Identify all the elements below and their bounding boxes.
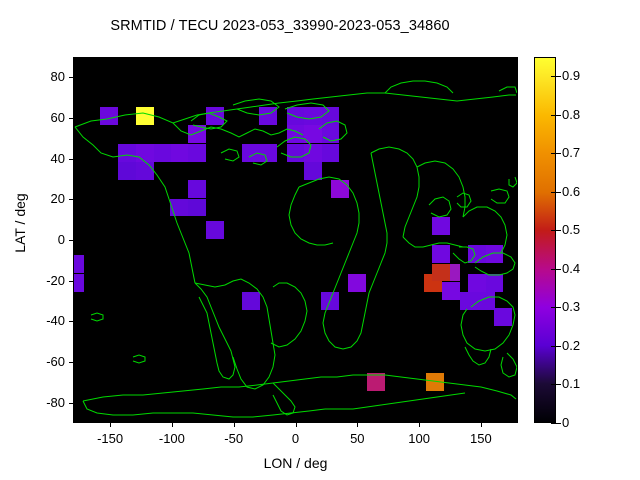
- y-tick-label: 40: [19, 151, 65, 166]
- colorbar-tick-mark-inner: [551, 76, 556, 77]
- x-tick-label: -100: [142, 431, 202, 446]
- colorbar-tick-label: 0.8: [562, 107, 580, 122]
- y-tick-mark: [69, 362, 73, 363]
- y-tick-label: 80: [19, 69, 65, 84]
- colorbar-tick-label: 0.1: [562, 376, 580, 391]
- colorbar-tick-mark-inner: [551, 346, 556, 347]
- y-tick-mark: [69, 77, 73, 78]
- y-tick-label: 0: [19, 232, 65, 247]
- colorbar-tick-mark: [556, 192, 561, 193]
- y-tick-mark: [69, 159, 73, 160]
- colorbar-tick-mark-inner: [551, 423, 556, 424]
- colorbar-tick-label: 0.4: [562, 261, 580, 276]
- y-tick-label: -60: [19, 354, 65, 369]
- colorbar-tick-label: 0: [562, 415, 569, 430]
- colorbar-tick-label: 0.6: [562, 184, 580, 199]
- colorbar-tick-mark: [556, 230, 561, 231]
- y-tick-label: -40: [19, 313, 65, 328]
- colorbar-tick-mark: [556, 76, 561, 77]
- colorbar-tick-mark-inner: [551, 307, 556, 308]
- colorbar-tick-mark-inner: [551, 192, 556, 193]
- colorbar-tick-label: 0.2: [562, 338, 580, 353]
- colorbar-tick-mark-inner: [551, 269, 556, 270]
- x-tick-mark: [357, 423, 358, 427]
- x-tick-label: 0: [266, 431, 326, 446]
- x-tick-mark: [481, 423, 482, 427]
- x-tick-mark: [172, 423, 173, 427]
- colorbar-tick-mark: [556, 384, 561, 385]
- x-tick-label: -150: [80, 431, 140, 446]
- colorbar-tick-mark-inner: [551, 230, 556, 231]
- x-axis-label: LON / deg: [73, 455, 518, 471]
- colorbar-tick-mark-inner: [551, 153, 556, 154]
- colorbar-tick-label: 0.7: [562, 145, 580, 160]
- colorbar-tick-mark: [556, 307, 561, 308]
- colorbar-tick-mark: [556, 269, 561, 270]
- colorbar-tick-label: 0.9: [562, 68, 580, 83]
- colorbar-tick-mark-inner: [551, 384, 556, 385]
- x-tick-label: 150: [451, 431, 511, 446]
- y-tick-mark: [69, 118, 73, 119]
- colorbar-tick-label: 0.3: [562, 299, 580, 314]
- y-tick-label: -80: [19, 395, 65, 410]
- colorbar-tick-mark: [556, 115, 561, 116]
- coastline-overlay: [73, 57, 518, 423]
- colorbar-tick-mark-inner: [551, 115, 556, 116]
- x-tick-label: 100: [389, 431, 449, 446]
- x-tick-label: 50: [327, 431, 387, 446]
- y-tick-mark: [69, 403, 73, 404]
- y-tick-mark: [69, 199, 73, 200]
- x-tick-label: -50: [204, 431, 264, 446]
- map-plot-area[interactable]: [73, 57, 518, 423]
- colorbar-gradient: [535, 58, 555, 422]
- y-tick-mark: [69, 321, 73, 322]
- x-tick-mark: [296, 423, 297, 427]
- y-tick-mark: [69, 240, 73, 241]
- x-tick-mark: [419, 423, 420, 427]
- x-tick-mark: [110, 423, 111, 427]
- colorbar-tick-mark: [556, 346, 561, 347]
- y-tick-label: 60: [19, 110, 65, 125]
- x-tick-mark: [234, 423, 235, 427]
- colorbar-tick-mark: [556, 153, 561, 154]
- figure-canvas: SRMTID / TECU 2023-053_33990-2023-053_34…: [0, 0, 640, 480]
- colorbar-tick-label: 0.5: [562, 222, 580, 237]
- y-tick-mark: [69, 281, 73, 282]
- y-tick-label: -20: [19, 273, 65, 288]
- y-tick-label: 20: [19, 191, 65, 206]
- colorbar[interactable]: [534, 57, 556, 423]
- chart-title: SRMTID / TECU 2023-053_33990-2023-053_34…: [0, 18, 560, 34]
- colorbar-tick-mark: [556, 423, 561, 424]
